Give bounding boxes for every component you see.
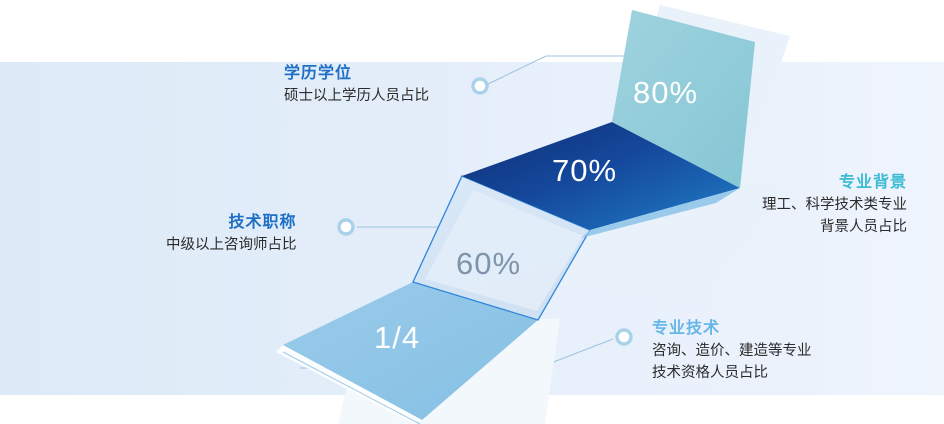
label-degree-title: 学历学位 <box>284 63 429 85</box>
label-major: 专业背景 理工、科学技术类专业 背景人员占比 <box>762 172 907 239</box>
label-degree-desc-1: 硕士以上学历人员占比 <box>284 85 429 107</box>
label-major-title: 专业背景 <box>762 172 907 194</box>
label-title: 技术职称 中级以上咨询师占比 <box>166 212 297 256</box>
label-degree: 学历学位 硕士以上学历人员占比 <box>284 63 429 107</box>
label-tech-desc-1: 咨询、造价、建造等专业 <box>652 340 812 362</box>
label-major-desc-2: 背景人员占比 <box>762 216 907 238</box>
label-title-title: 技术职称 <box>166 212 297 234</box>
label-tech-desc-2: 技术资格人员占比 <box>652 362 812 384</box>
label-tech-title: 专业技术 <box>652 318 812 340</box>
label-title-desc-1: 中级以上咨询师占比 <box>166 234 297 256</box>
label-major-desc-1: 理工、科学技术类专业 <box>762 194 907 216</box>
infographic-canvas: 80% 70% 60% 1/4 学历学位 硕士以上学历人员占比 技术职称 中级以… <box>0 0 944 424</box>
label-tech: 专业技术 咨询、造价、建造等专业 技术资格人员占比 <box>652 318 812 385</box>
